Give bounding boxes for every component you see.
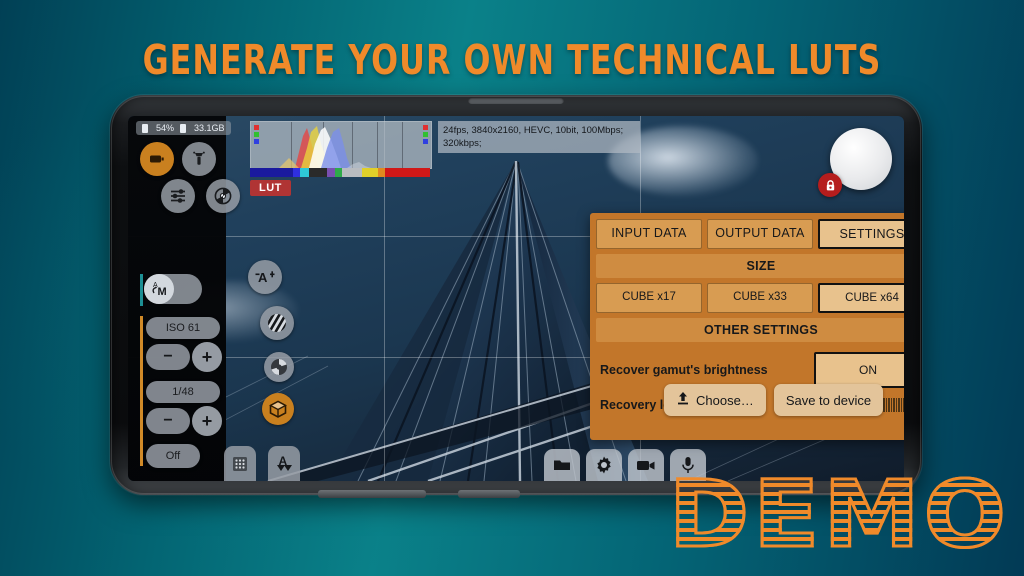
histogram-rgb-markers-left bbox=[254, 125, 259, 146]
tab-settings[interactable]: SETTINGS bbox=[818, 219, 904, 249]
aperture-icon[interactable] bbox=[264, 352, 294, 382]
exposure-compensation-icon[interactable]: A bbox=[248, 260, 282, 294]
sliders-icon[interactable] bbox=[161, 179, 195, 213]
phone-earpiece-speaker bbox=[468, 97, 564, 104]
recover-gamut-toggle[interactable]: ON bbox=[814, 352, 904, 388]
shutter-speed-value[interactable]: 1/48 bbox=[146, 381, 220, 403]
auto-manual-toggle[interactable]: AM bbox=[144, 274, 202, 304]
flashlight-icon[interactable] bbox=[182, 142, 216, 176]
iso-value[interactable]: ISO 61 bbox=[146, 317, 220, 339]
upload-icon bbox=[676, 391, 690, 409]
video-info-overlay: 24fps, 3840x2160, HEVC, 10bit, 100Mbps; … bbox=[438, 121, 640, 153]
svg-text:A: A bbox=[258, 270, 268, 285]
gear-icon[interactable] bbox=[586, 449, 622, 481]
size-section-header: SIZE bbox=[596, 254, 904, 278]
battery-icon bbox=[142, 124, 148, 133]
iso-decrease-button[interactable]: − bbox=[146, 344, 190, 370]
compass-icon[interactable] bbox=[206, 179, 240, 213]
size-option-cube-x17[interactable]: CUBE x17 bbox=[596, 283, 702, 313]
choose-button-label: Choose… bbox=[696, 393, 754, 408]
storage-icon bbox=[180, 124, 186, 133]
histogram[interactable] bbox=[250, 121, 432, 169]
histogram-color-bar bbox=[250, 168, 430, 177]
tab-output-data[interactable]: OUTPUT DATA bbox=[707, 219, 813, 249]
tab-input-data[interactable]: INPUT DATA bbox=[596, 219, 702, 249]
lock-icon[interactable] bbox=[818, 173, 842, 197]
shutter-decrease-button[interactable]: − bbox=[146, 408, 190, 434]
size-options: CUBE x17 CUBE x33 CUBE x64 bbox=[596, 283, 904, 313]
page-title: GENERATE YOUR OWN TECHNICAL LUTS bbox=[72, 36, 953, 84]
battery-camera-icon[interactable] bbox=[140, 142, 174, 176]
autofocus-icon[interactable]: A bbox=[268, 446, 300, 481]
grid-overlay-icon[interactable] bbox=[224, 446, 256, 481]
size-option-cube-x64[interactable]: CUBE x64 bbox=[818, 283, 904, 313]
save-to-device-button[interactable]: Save to device bbox=[774, 384, 883, 416]
phone-volume-button bbox=[318, 490, 426, 498]
iso-increase-button[interactable]: + bbox=[192, 342, 222, 372]
save-to-device-label: Save to device bbox=[786, 393, 871, 408]
other-settings-header: OTHER SETTINGS bbox=[596, 318, 904, 342]
popup-tabs: INPUT DATA OUTPUT DATA SETTINGS bbox=[596, 219, 904, 249]
auto-manual-indicator-bar bbox=[140, 274, 143, 306]
phone-screen: 54% 33.1GB AM ISO 61 − + 1/48 bbox=[128, 116, 904, 481]
demo-watermark: DEMO bbox=[669, 461, 1010, 568]
choose-button[interactable]: Choose… bbox=[664, 384, 766, 416]
histogram-rgb-markers-right bbox=[423, 125, 428, 146]
lut-cube-icon[interactable] bbox=[262, 393, 294, 425]
setting-row-recover-gamut: Recover gamut's brightness ON bbox=[596, 352, 904, 388]
recover-gamut-label: Recover gamut's brightness bbox=[600, 363, 814, 377]
popup-action-buttons: Choose… Save to device bbox=[664, 384, 883, 416]
status-bar: 54% 33.1GB bbox=[136, 121, 231, 135]
auto-manual-knob: AM bbox=[144, 274, 174, 304]
storage-free: 33.1GB bbox=[194, 123, 225, 133]
folder-icon[interactable] bbox=[544, 449, 580, 481]
phone-power-button bbox=[458, 490, 520, 498]
white-balance-off-button[interactable]: Off bbox=[146, 444, 200, 468]
battery-percent: 54% bbox=[156, 123, 174, 133]
zebra-stripes-icon[interactable] bbox=[260, 306, 294, 340]
size-option-cube-x33[interactable]: CUBE x33 bbox=[707, 283, 813, 313]
manual-controls-bar bbox=[140, 316, 143, 466]
video-camera-icon[interactable] bbox=[628, 449, 664, 481]
lut-badge: LUT bbox=[250, 180, 291, 196]
phone-device-frame: 54% 33.1GB AM ISO 61 − + 1/48 bbox=[110, 95, 922, 495]
svg-text:M: M bbox=[158, 286, 167, 298]
shutter-increase-button[interactable]: + bbox=[192, 406, 222, 436]
